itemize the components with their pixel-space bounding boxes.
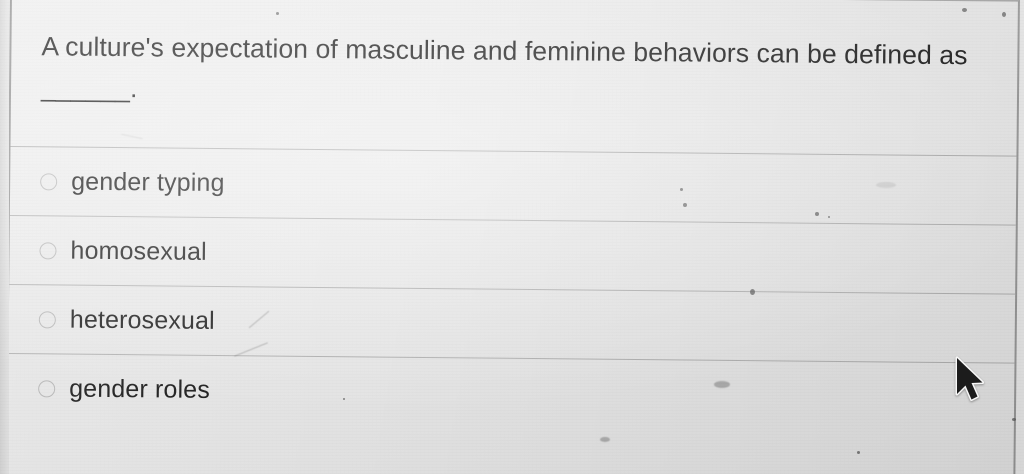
photo-speck xyxy=(815,212,819,216)
photo-smudge xyxy=(714,381,730,388)
photo-speck xyxy=(1012,418,1016,421)
option-row-gender-roles[interactable]: gender roles xyxy=(8,353,1015,432)
photo-smudge xyxy=(876,182,896,188)
option-label-heterosexual: heterosexual xyxy=(70,305,215,335)
photo-speck xyxy=(857,451,860,454)
photographed-screen: A culture's expectation of masculine and… xyxy=(0,0,1024,474)
photo-speck xyxy=(962,8,967,12)
photo-speck xyxy=(750,289,755,295)
photo-smudge xyxy=(600,437,610,442)
quiz-question-card: A culture's expectation of masculine and… xyxy=(5,0,1020,474)
radio-unselected-icon[interactable] xyxy=(39,242,56,259)
photo-speck xyxy=(683,203,687,207)
answer-options-list[interactable]: gender typing homosexual heterosexual ge… xyxy=(8,146,1017,432)
photo-speck xyxy=(343,398,345,400)
option-label-homosexual: homosexual xyxy=(70,236,207,266)
photo-speck xyxy=(828,216,830,218)
option-label-gender-roles: gender roles xyxy=(69,374,210,404)
option-row-homosexual[interactable]: homosexual xyxy=(9,215,1016,294)
radio-unselected-icon[interactable] xyxy=(38,380,55,397)
mouse-pointer-arrow-icon xyxy=(954,356,988,404)
photo-left-gutter xyxy=(0,0,9,474)
photo-speck xyxy=(1002,12,1006,17)
option-label-gender-typing: gender typing xyxy=(71,167,225,197)
option-row-heterosexual[interactable]: heterosexual xyxy=(9,284,1016,363)
question-text: A culture's expectation of masculine and… xyxy=(41,26,982,117)
radio-unselected-icon[interactable] xyxy=(39,311,56,328)
photo-speck xyxy=(680,188,683,191)
radio-unselected-icon[interactable] xyxy=(40,173,57,190)
photo-speck xyxy=(276,12,279,15)
option-row-gender-typing[interactable]: gender typing xyxy=(10,146,1017,225)
